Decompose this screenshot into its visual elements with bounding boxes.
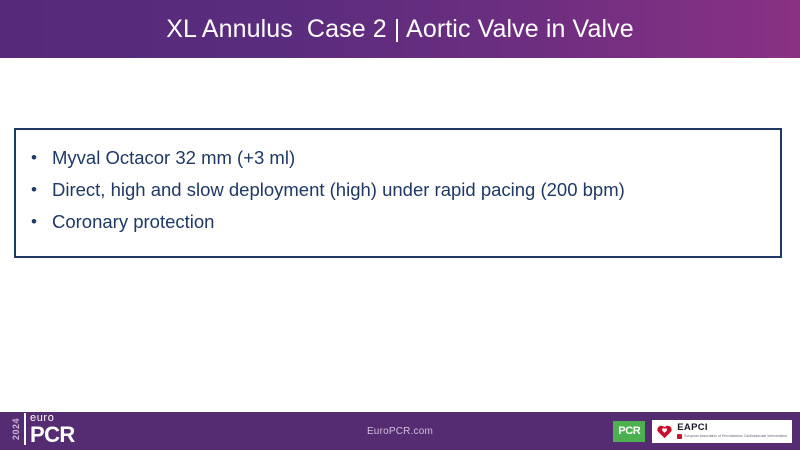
footer-website-label: EuroPCR.com	[367, 426, 433, 437]
bullet-point-icon: •	[16, 144, 52, 172]
eapci-subtitle-label: European Association of Percutaneous Car…	[684, 435, 787, 439]
bullet-list: • Myval Octacor 32 mm (+3 ml) • Direct, …	[16, 144, 780, 240]
logo-year-label: 2024	[12, 418, 21, 440]
eapci-wordmark: EAPCI European Association of Percutaneo…	[677, 423, 787, 439]
list-item: • Myval Octacor 32 mm (+3 ml)	[16, 144, 780, 176]
list-item: • Direct, high and slow deployment (high…	[16, 176, 780, 208]
pcr-green-label: PCR	[618, 425, 640, 437]
bullet-point-icon: •	[16, 176, 52, 204]
pcr-green-logo: PCR	[613, 421, 645, 442]
logo-wordmark: euro PCR	[30, 413, 75, 445]
heart-icon	[656, 423, 673, 440]
logo-divider	[24, 413, 26, 445]
eapci-square-icon	[677, 434, 682, 439]
eapci-logo: EAPCI European Association of Percutaneo…	[652, 420, 792, 443]
europcr-logo: 2024 euro PCR	[12, 409, 75, 449]
bullet-point-icon: •	[16, 208, 52, 236]
page-title: XL Annulus Case 2 | Aortic Valve in Valv…	[166, 17, 633, 42]
list-item-label: Coronary protection	[52, 208, 214, 236]
logo-pcr-label: PCR	[30, 425, 75, 445]
eapci-name-label: EAPCI	[677, 423, 787, 433]
list-item: • Coronary protection	[16, 208, 780, 240]
list-item-label: Direct, high and slow deployment (high) …	[52, 176, 625, 204]
content-box: • Myval Octacor 32 mm (+3 ml) • Direct, …	[14, 128, 782, 258]
list-item-label: Myval Octacor 32 mm (+3 ml)	[52, 144, 295, 172]
eapci-subtitle-row: European Association of Percutaneous Car…	[677, 434, 787, 439]
slide-title-bar: XL Annulus Case 2 | Aortic Valve in Valv…	[0, 0, 800, 58]
footer-partner-logos: PCR EAPCI European Association of Percut…	[613, 418, 792, 444]
